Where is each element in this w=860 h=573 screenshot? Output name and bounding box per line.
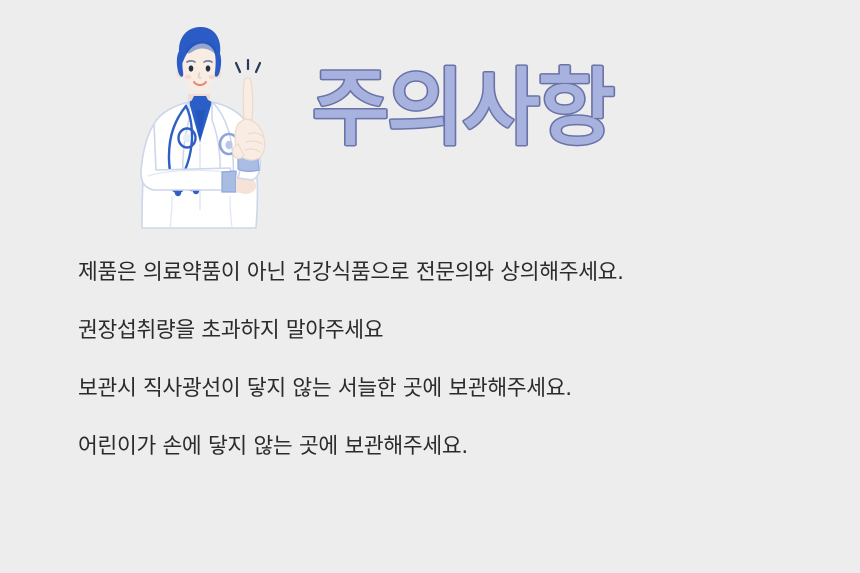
notice-item: 보관시 직사광선이 닿지 않는 서늘한 곳에 보관해주세요. bbox=[78, 378, 798, 407]
header-band: 주의사항 bbox=[0, 0, 860, 240]
caution-notice-list: 제품은 의료약품이 아닌 건강식품으로 전문의와 상의해주세요. 권장섭취량을 … bbox=[78, 262, 798, 465]
page-title-text: 주의사항 bbox=[312, 66, 613, 150]
notice-item: 제품은 의료약품이 아닌 건강식품으로 전문의와 상의해주세요. bbox=[78, 262, 798, 291]
notice-item: 어린이가 손에 닿지 않는 곳에 보관해주세요. bbox=[78, 436, 798, 465]
product-caution-section: 주의사항 제품은 의료약품이 아닌 건강식품으로 전문의와 상의해주세요. 권장… bbox=[0, 0, 860, 573]
notice-item: 권장섭취량을 초과하지 말아주세요 bbox=[78, 320, 798, 349]
emphasis-marks bbox=[236, 60, 260, 72]
page-title: 주의사항 bbox=[312, 52, 612, 164]
doctor-raising-finger-illustration bbox=[126, 20, 286, 232]
